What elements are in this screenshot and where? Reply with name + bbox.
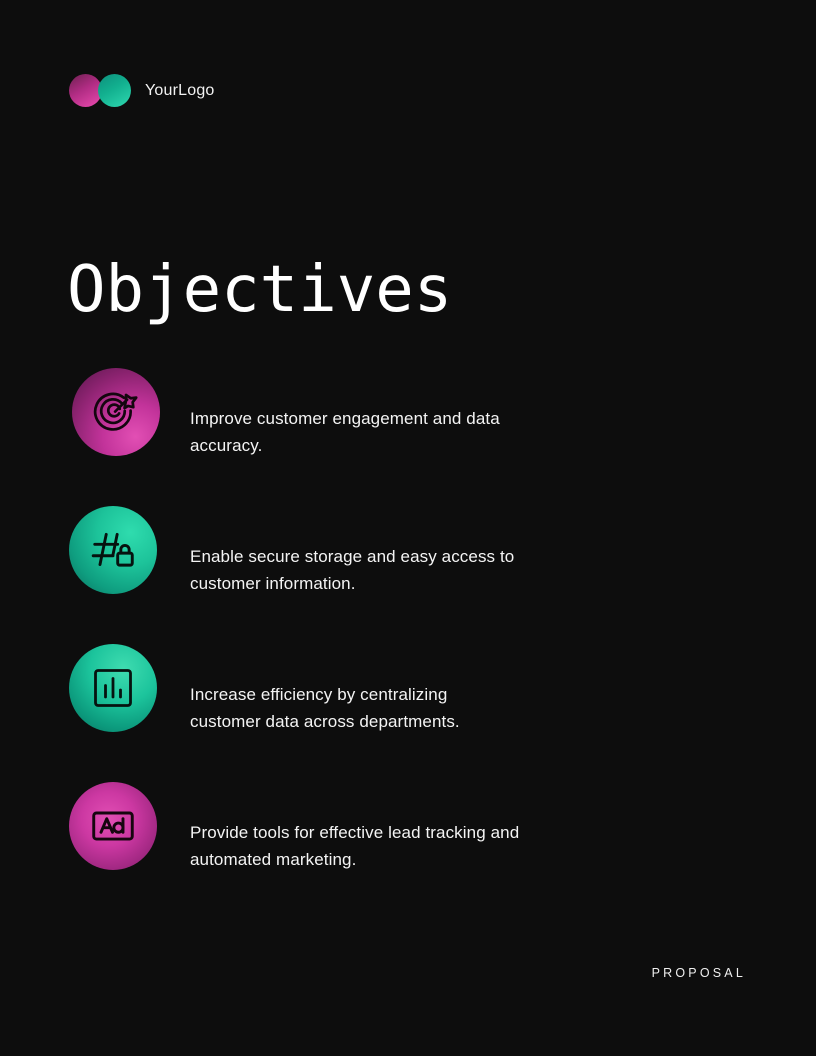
list-item: Increase efficiency by centralizing cust… bbox=[0, 644, 816, 782]
list-item: Enable secure storage and easy access to… bbox=[0, 506, 816, 644]
objective-text: Provide tools for effective lead trackin… bbox=[190, 819, 520, 873]
circle-teal-icon bbox=[98, 74, 131, 107]
brand-logo: YourLogo bbox=[69, 74, 215, 107]
list-item: Provide tools for effective lead trackin… bbox=[0, 782, 816, 920]
logo-text: YourLogo bbox=[145, 82, 215, 100]
ad-badge-icon bbox=[69, 782, 157, 870]
logo-marks bbox=[69, 74, 132, 107]
footer-label: PROPOSAL bbox=[652, 966, 746, 980]
objective-text: Increase efficiency by centralizing cust… bbox=[190, 681, 520, 735]
list-item: Improve customer engagement and data acc… bbox=[0, 368, 816, 506]
objective-text: Improve customer engagement and data acc… bbox=[190, 405, 520, 459]
objectives-list: Improve customer engagement and data acc… bbox=[0, 368, 816, 920]
target-dart-icon bbox=[72, 368, 160, 456]
bar-chart-icon bbox=[69, 644, 157, 732]
hash-lock-icon bbox=[69, 506, 157, 594]
objective-text: Enable secure storage and easy access to… bbox=[190, 543, 520, 597]
page-title: Objectives bbox=[67, 258, 452, 322]
